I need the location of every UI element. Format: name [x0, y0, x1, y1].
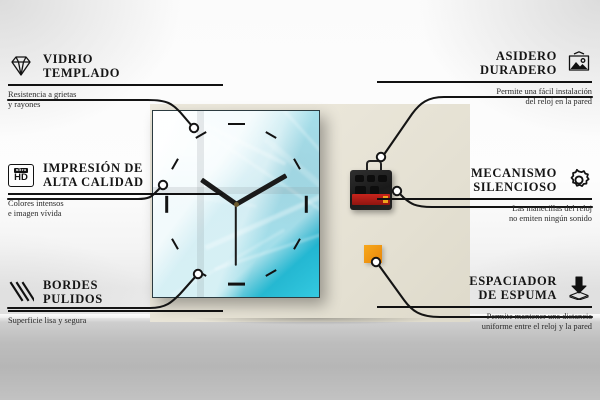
mechanism-detail [367, 175, 375, 182]
feature-desc: Colores intensos e imagen vívida [8, 199, 223, 220]
feature-espaciador-de-espuma[interactable]: ESPACIADOR DE ESPUMA Permite mantener un… [377, 274, 592, 332]
feature-header: MECANISMO SILENCIOSO [377, 166, 592, 194]
feature-header: ultra HD IMPRESIÓN DE ALTA CALIDAD [8, 161, 223, 189]
feature-desc: Resistencia a grietas y rayones [8, 90, 223, 111]
picture-frame-icon [566, 51, 592, 75]
hour-marker [305, 195, 308, 212]
feature-title: BORDES PULIDOS [43, 278, 103, 306]
hour-marker [265, 269, 276, 277]
feature-desc: Permite una fácil instalación del reloj … [377, 87, 592, 108]
feature-title: IMPRESIÓN DE ALTA CALIDAD [43, 161, 144, 189]
feature-header: BORDES PULIDOS [8, 278, 223, 306]
hour-marker [228, 123, 245, 126]
divider [8, 84, 223, 86]
ultra-hd-icon: ultra HD [8, 164, 34, 187]
feature-desc: Superficie lisa y segura [8, 316, 223, 326]
divider [8, 310, 223, 312]
divider [377, 306, 592, 308]
foam-spacer [364, 245, 382, 263]
feature-title: ASIDERO DURADERO [480, 49, 557, 77]
mechanism-detail [355, 175, 364, 182]
press-down-arrow-icon [566, 276, 592, 300]
feature-title: ESPACIADOR DE ESPUMA [469, 274, 557, 302]
hand-center-cap [234, 202, 239, 207]
feature-title: VIDRIO TEMPLADO [43, 52, 120, 80]
feature-bordes-pulidos[interactable]: BORDES PULIDOS Superficie lisa y segura [8, 278, 223, 326]
divider [8, 193, 223, 195]
second-hand [235, 204, 237, 266]
hour-marker [228, 283, 245, 286]
feature-vidrio-templado[interactable]: VIDRIO TEMPLADO Resistencia a grietas y … [8, 52, 223, 110]
feature-header: ESPACIADOR DE ESPUMA [377, 274, 592, 302]
infographic-canvas: VIDRIO TEMPLADO Resistencia a grietas y … [0, 0, 600, 400]
diagonal-lines-icon [8, 280, 34, 304]
feature-title: MECANISMO SILENCIOSO [471, 166, 557, 194]
feature-header: VIDRIO TEMPLADO [8, 52, 223, 80]
hour-marker [172, 238, 180, 249]
feature-header: ASIDERO DURADERO [377, 49, 592, 77]
divider [377, 198, 592, 200]
feature-desc: Permite mantener una distancia uniforme … [377, 312, 592, 333]
feature-mecanismo-silencioso[interactable]: MECANISMO SILENCIOSO Las manecillas del … [377, 166, 592, 224]
gear-icon [566, 168, 592, 192]
feature-impresion-alta-calidad[interactable]: ultra HD IMPRESIÓN DE ALTA CALIDAD Color… [8, 161, 223, 219]
divider [377, 81, 592, 83]
feature-asidero-duradero[interactable]: ASIDERO DURADERO Permite una fácil insta… [377, 49, 592, 107]
feature-desc: Las manecillas del reloj no emiten ningú… [377, 204, 592, 225]
diamond-icon [8, 54, 34, 78]
